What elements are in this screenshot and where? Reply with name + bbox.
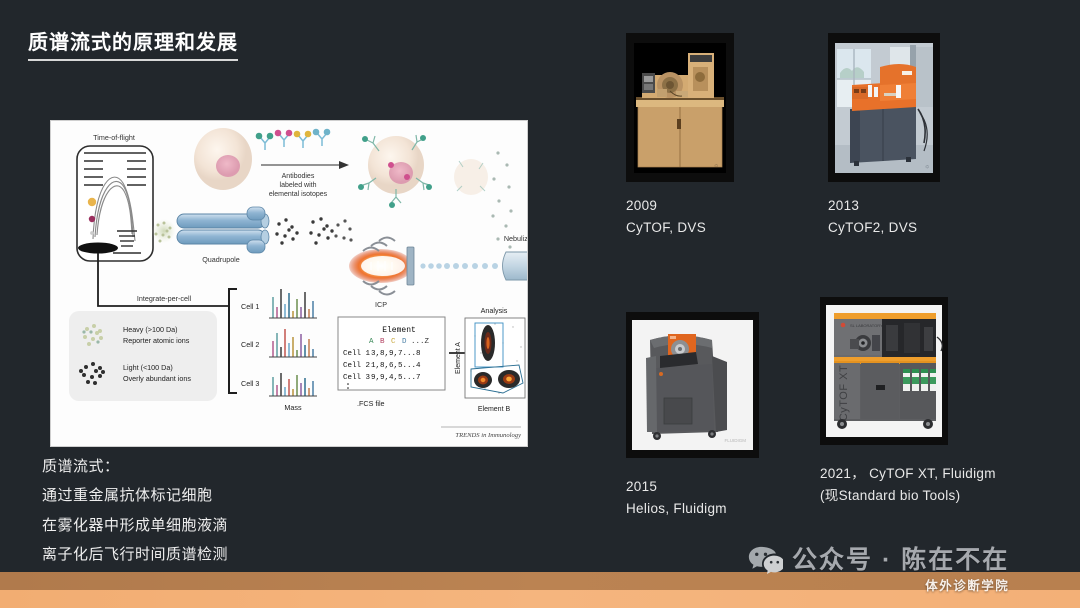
year-2013: 2013 bbox=[828, 198, 859, 213]
wechat-watermark: 公众号 · 陈在不在 体外诊断学院 bbox=[748, 545, 1009, 575]
svg-text:Cell 1: Cell 1 bbox=[241, 302, 259, 311]
svg-text:⌬: ⌬ bbox=[926, 164, 930, 169]
summary-line-1: 质谱流式： bbox=[42, 452, 228, 481]
instrument-card-2009: ⌬ 2009 CyTOF, DVS bbox=[626, 33, 816, 239]
label-antibodies-2: labeled with bbox=[280, 182, 317, 189]
model-2009: CyTOF, DVS bbox=[626, 217, 816, 239]
caption-2013: 2013 CyTOF2, DVS bbox=[828, 195, 1038, 239]
mass-cytometry-workflow-diagram: Time-of-flight bbox=[50, 120, 528, 447]
svg-text:FLUIDIGM: FLUIDIGM bbox=[724, 438, 746, 443]
svg-text:...Z: ...Z bbox=[411, 338, 430, 346]
svg-text:C: C bbox=[391, 338, 396, 346]
fcs-row-1-values: 3,8,9,7...8 bbox=[371, 350, 421, 358]
watermark-text-wrap: 公众号 · 陈在不在 体外诊断学院 bbox=[792, 548, 1009, 573]
summary-line-2: 通过重金属抗体标记细胞 bbox=[42, 481, 228, 510]
label-axis-x: Element B bbox=[478, 406, 511, 413]
summary-text-block: 质谱流式： 通过重金属抗体标记细胞 在雾化器中形成单细胞液滴 离子化后飞行时间质… bbox=[42, 452, 228, 569]
label-mass: Mass bbox=[284, 403, 302, 412]
model-2021: (现Standard bio Tools) bbox=[820, 485, 1030, 507]
fcs-row-1-cell: Cell 1 bbox=[343, 350, 371, 358]
label-analysis: Analysis bbox=[481, 306, 508, 315]
diagram-graphic: Time-of-flight bbox=[51, 121, 528, 447]
band-light-stripe bbox=[0, 590, 1080, 608]
label-light-2: Overly abundant ions bbox=[123, 374, 191, 383]
page-title: 质谱流式的原理和发展 bbox=[28, 31, 238, 61]
label-heavy-1: Heavy (>100 Da) bbox=[123, 325, 178, 334]
cytof2-dvs-photo-graphic: ⌬ bbox=[828, 33, 940, 182]
svg-text:⌬: ⌬ bbox=[715, 163, 719, 168]
fcs-row-3-values: 9,9,4,5...7 bbox=[371, 374, 421, 382]
summary-line-3: 在雾化器中形成单细胞液滴 bbox=[42, 511, 228, 540]
svg-text:A: A bbox=[369, 338, 374, 346]
label-nebulizer: Nebulizer bbox=[504, 234, 528, 243]
year-2015: 2015 bbox=[626, 479, 657, 494]
label-source: TRENDS in Immunology bbox=[455, 432, 521, 439]
cytof-xt-photo: CyTOF XT bbox=[820, 297, 948, 445]
fcs-row-3-cell: Cell 3 bbox=[343, 374, 371, 382]
label-time-of-flight: Time-of-flight bbox=[93, 133, 135, 142]
helios-fluidigm-photo-graphic: FLUIDIGM bbox=[626, 312, 759, 458]
watermark-sub-text: 体外诊断学院 bbox=[925, 575, 1009, 594]
label-axis-y: Element A bbox=[455, 342, 462, 374]
year-2009: 2009 bbox=[626, 198, 657, 213]
label-antibodies-3: elemental isotopes bbox=[269, 191, 328, 198]
watermark-main-text: 公众号 · 陈在不在 bbox=[792, 548, 1009, 573]
label-icp: ICP bbox=[375, 300, 387, 309]
instrument-card-2015: FLUIDIGM 2015 Helios, Fluidigm bbox=[626, 312, 816, 520]
svg-text:Cell 2: Cell 2 bbox=[241, 340, 259, 349]
cytof-dvs-photo-graphic: ⌬ bbox=[626, 33, 734, 182]
label-fcs-file: .FCS file bbox=[357, 399, 385, 408]
cytof-xt-photo-graphic: CyTOF XT bbox=[820, 297, 948, 445]
ion-cloud-light bbox=[152, 219, 176, 243]
instrument-card-2013: ⌬ 2013 CyTOF2, DVS bbox=[828, 33, 1038, 239]
svg-text:Cell 3: Cell 3 bbox=[241, 379, 259, 388]
svg-text:D: D bbox=[402, 338, 407, 346]
instrument-card-2021: CyTOF XT bbox=[820, 297, 1030, 507]
summary-line-4: 离子化后飞行时间质谱检测 bbox=[42, 540, 228, 569]
bottom-accent-band bbox=[0, 572, 1080, 608]
fcs-row-2-values: 1,8,6,5...4 bbox=[371, 362, 421, 370]
label-element-header: Element bbox=[382, 326, 416, 335]
model-2015: Helios, Fluidigm bbox=[626, 498, 816, 520]
label-integrate-per-cell: Integrate-per-cell bbox=[137, 294, 192, 303]
label-light-1: Light (<100 Da) bbox=[123, 363, 173, 372]
wechat-icon bbox=[748, 545, 783, 575]
fcs-row-2-cell: Cell 2 bbox=[343, 362, 370, 370]
cytof2-dvs-photo: ⌬ bbox=[828, 33, 940, 182]
model-2013: CyTOF2, DVS bbox=[828, 217, 1038, 239]
caption-2009: 2009 CyTOF, DVS bbox=[626, 195, 816, 239]
cytof-dvs-photo: ⌬ bbox=[626, 33, 734, 182]
svg-text:B: B bbox=[380, 338, 385, 346]
label-quadrupole: Quadrupole bbox=[202, 255, 240, 264]
year-2021: 2021， CyTOF XT, Fluidigm bbox=[820, 466, 996, 481]
label-heavy-2: Reporter atomic ions bbox=[123, 336, 190, 345]
caption-2015: 2015 Helios, Fluidigm bbox=[626, 476, 816, 520]
nebulizer-graphic bbox=[503, 252, 529, 280]
svg-text:CyTOF XT: CyTOF XT bbox=[838, 365, 850, 421]
svg-text:SL LABORATORY: SL LABORATORY bbox=[850, 323, 883, 328]
caption-2021: 2021， CyTOF XT, Fluidigm (现Standard bio … bbox=[820, 463, 1030, 507]
label-antibodies-1: Antibodies bbox=[282, 173, 315, 180]
helios-fluidigm-photo: FLUIDIGM bbox=[626, 312, 759, 458]
